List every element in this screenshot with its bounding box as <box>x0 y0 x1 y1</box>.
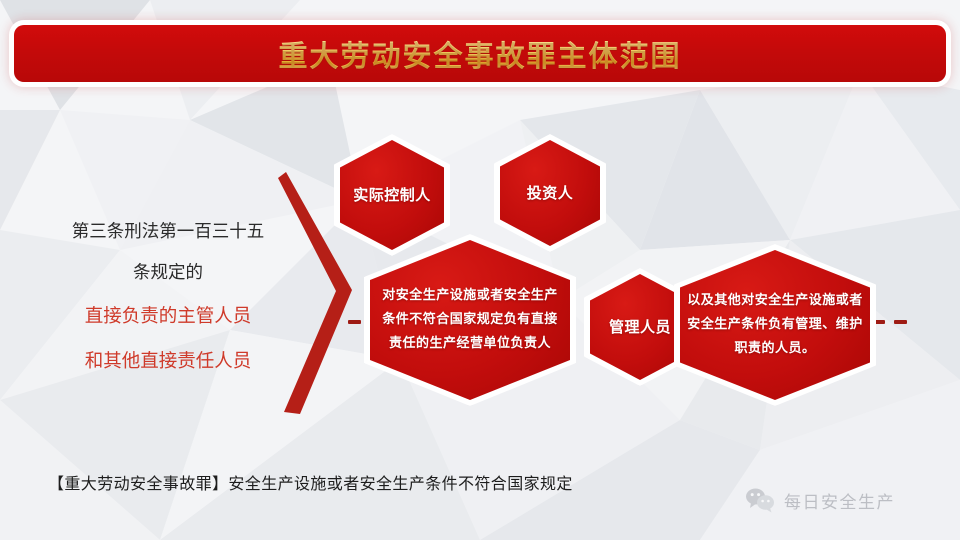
wechat-icon <box>745 487 775 513</box>
title-banner: 重大劳动安全事故罪主体范围 <box>14 25 946 82</box>
legal-text-line-2: 条规定的 <box>38 253 298 294</box>
footnote-text: 【重大劳动安全事故罪】安全生产设施或者安全生产条件不符合国家规定 <box>48 470 573 494</box>
dash-segment <box>894 320 907 324</box>
hex-label-investor: 投资人 <box>520 181 581 206</box>
left-text-block: 第三条刑法第一百三十五 条规定的 直接负责的主管人员 和其他直接责任人员 <box>38 212 298 384</box>
connector-dash-right <box>872 320 907 324</box>
hex-label-responsible-person: 对安全生产设施或者安全生产条件不符合国家规定负有直接责任的生产经营单位负责人 <box>370 284 570 356</box>
legal-text-line-1: 第三条刑法第一百三十五 <box>38 212 298 253</box>
connector-dash-left <box>348 320 361 324</box>
page-title: 重大劳动安全事故罪主体范围 <box>278 33 681 75</box>
watermark-text: 每日安全生产 <box>784 488 895 513</box>
legal-text-line-3: 直接负责的主管人员 <box>38 294 298 339</box>
hex-label-management-staff: 管理人员 <box>602 315 678 340</box>
legal-text-line-4: 和其他直接责任人员 <box>38 339 298 384</box>
hex-label-actual-controller: 实际控制人 <box>346 183 438 208</box>
dash-segment <box>348 320 361 324</box>
slide-canvas: 重大劳动安全事故罪主体范围 第三条刑法第一百三十五 条规定的 直接负责的主管人员… <box>0 0 960 540</box>
watermark: 每日安全生产 <box>745 487 895 513</box>
hex-label-other-duty-staff: 以及其他对安全生产设施或者安全生产条件负有管理、维护职责的人员。 <box>680 289 870 361</box>
